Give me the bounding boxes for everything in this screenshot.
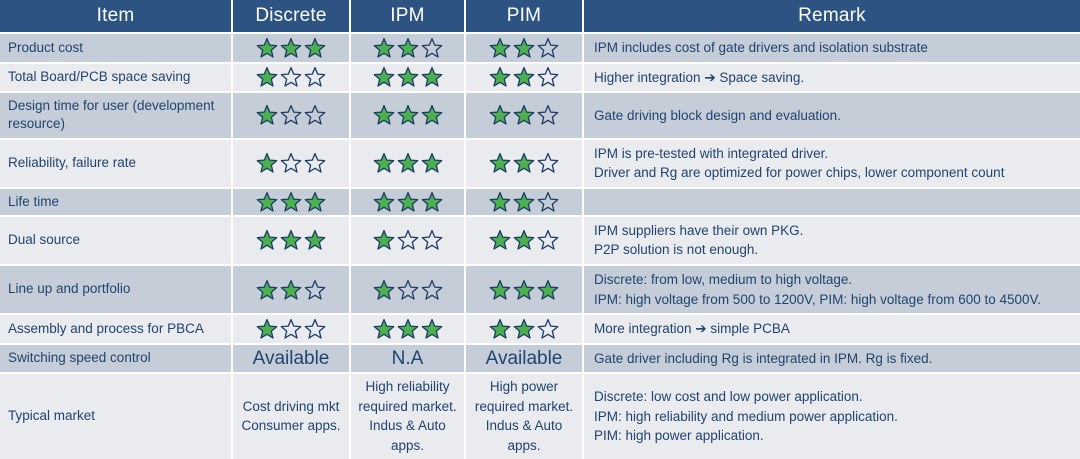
star-empty-icon [279,320,303,337]
cell-remark: Gate driving block design and evaluation… [583,92,1080,138]
star-empty-icon [303,320,327,337]
star-rating [255,152,327,174]
star-rating [372,152,444,174]
star-empty-icon [396,281,420,298]
cell-remark: IPM is pre-tested with integrated driver… [583,139,1080,188]
column-header-remark: Remark [583,0,1080,33]
cell-discrete [232,216,350,265]
cell-remark: IPM includes cost of gate drivers and is… [583,33,1080,63]
star-filled-icon [512,107,536,124]
star-filled-icon [420,320,444,337]
star-rating [372,279,444,301]
star-empty-icon [420,281,444,298]
star-filled-icon [420,193,444,210]
star-empty-icon [536,193,560,210]
cell-discrete [232,314,350,344]
star-filled-icon [255,39,279,56]
cell-pim [465,188,583,216]
cell-pim [465,33,583,63]
star-filled-icon [488,232,512,249]
star-rating [488,37,560,59]
cell-ipm [350,139,465,188]
star-filled-icon [255,69,279,86]
cell-ipm: N.A [350,344,465,374]
cell-remark: Discrete: from low, medium to high volta… [583,265,1080,314]
cell-discrete [232,92,350,138]
cell-ipm [350,188,465,216]
table-row: Design time for user (development resour… [0,92,1080,138]
star-empty-icon [279,107,303,124]
star-empty-icon [420,232,444,249]
row-label: Reliability, failure rate [0,139,232,188]
star-rating [372,318,444,340]
table-row: Dual sourceIPM suppliers have their own … [0,216,1080,265]
star-filled-icon [488,193,512,210]
star-empty-icon [396,232,420,249]
star-empty-icon [536,39,560,56]
cell-discrete [232,265,350,314]
cell-discrete: Cost driving mkt Consumer apps. [232,373,350,458]
cell-discrete [232,33,350,63]
star-filled-icon [536,281,560,298]
star-filled-icon [303,39,327,56]
star-filled-icon [512,69,536,86]
cell-remark: Discrete: low cost and low power applica… [583,373,1080,458]
cell-remark: IPM suppliers have their own PKG. P2P so… [583,216,1080,265]
cell-pim [465,139,583,188]
star-rating [372,66,444,88]
cell-remark: More integration ➔ simple PCBA [583,314,1080,344]
header-row: Item Discrete IPM PIM Remark [0,0,1080,33]
star-filled-icon [512,281,536,298]
star-filled-icon [420,69,444,86]
cell-pim: High power required market. Indus & Auto… [465,373,583,458]
cell-ipm [350,314,465,344]
star-filled-icon [488,39,512,56]
star-filled-icon [279,193,303,210]
star-filled-icon [512,154,536,171]
star-filled-icon [303,193,327,210]
cell-remark: Higher integration ➔ Space saving. [583,63,1080,93]
star-rating [255,279,327,301]
star-filled-icon [303,232,327,249]
star-empty-icon [303,281,327,298]
cell-discrete [232,63,350,93]
row-label: Design time for user (development resour… [0,92,232,138]
star-rating [255,104,327,126]
star-filled-icon [488,281,512,298]
star-filled-icon [372,320,396,337]
star-filled-icon [488,107,512,124]
star-empty-icon [420,39,444,56]
star-rating [488,229,560,251]
column-header-pim: PIM [465,0,583,33]
star-filled-icon [396,320,420,337]
row-label: Total Board/PCB space saving [0,63,232,93]
cell-pim: Available [465,344,583,374]
star-filled-icon [488,154,512,171]
star-empty-icon [279,154,303,171]
table-row: Typical marketCost driving mkt Consumer … [0,373,1080,458]
table-row: Line up and portfolioDiscrete: from low,… [0,265,1080,314]
star-filled-icon [372,39,396,56]
table-row: Product costIPM includes cost of gate dr… [0,33,1080,63]
table-row: Life time [0,188,1080,216]
star-filled-icon [372,154,396,171]
star-empty-icon [303,69,327,86]
row-label: Line up and portfolio [0,265,232,314]
cell-remark [583,188,1080,216]
star-empty-icon [536,69,560,86]
star-filled-icon [420,107,444,124]
star-rating [488,66,560,88]
star-rating [255,229,327,251]
star-filled-icon [255,154,279,171]
star-empty-icon [279,69,303,86]
star-filled-icon [372,193,396,210]
column-header-ipm: IPM [350,0,465,33]
star-filled-icon [488,69,512,86]
row-label: Dual source [0,216,232,265]
star-rating [488,191,560,213]
star-empty-icon [536,232,560,249]
star-filled-icon [372,232,396,249]
cell-ipm: High reliability required market. Indus … [350,373,465,458]
star-filled-icon [255,107,279,124]
table-row: Reliability, failure rateIPM is pre-test… [0,139,1080,188]
row-label: Assembly and process for PBCA [0,314,232,344]
star-rating [255,37,327,59]
star-rating [255,191,327,213]
star-rating [372,229,444,251]
star-filled-icon [279,39,303,56]
star-rating [372,191,444,213]
star-filled-icon [255,232,279,249]
star-filled-icon [372,69,396,86]
star-filled-icon [255,281,279,298]
star-filled-icon [396,193,420,210]
star-filled-icon [512,320,536,337]
star-filled-icon [372,107,396,124]
cell-ipm [350,92,465,138]
star-filled-icon [372,281,396,298]
cell-remark: Gate driver including Rg is integrated i… [583,344,1080,374]
table-row: Assembly and process for PBCAMore integr… [0,314,1080,344]
star-rating [488,104,560,126]
cell-pim [465,92,583,138]
star-filled-icon [512,39,536,56]
star-rating [255,318,327,340]
star-filled-icon [396,69,420,86]
table-header: Item Discrete IPM PIM Remark [0,0,1080,33]
column-header-item: Item [0,0,232,33]
star-empty-icon [303,107,327,124]
star-empty-icon [536,320,560,337]
star-filled-icon [488,320,512,337]
star-filled-icon [255,193,279,210]
star-rating [372,104,444,126]
star-filled-icon [279,281,303,298]
column-header-discrete: Discrete [232,0,350,33]
table-body: Product costIPM includes cost of gate dr… [0,33,1080,459]
star-filled-icon [279,232,303,249]
cell-ipm [350,265,465,314]
star-rating [372,37,444,59]
cell-ipm [350,216,465,265]
cell-ipm [350,63,465,93]
star-filled-icon [396,39,420,56]
cell-pim [465,265,583,314]
star-filled-icon [420,154,444,171]
star-filled-icon [396,107,420,124]
table-row: Total Board/PCB space savingHigher integ… [0,63,1080,93]
star-empty-icon [536,107,560,124]
power-module-comparison-table: Item Discrete IPM PIM Remark Product cos… [0,0,1080,459]
star-rating [488,152,560,174]
cell-discrete: Available [232,344,350,374]
row-label: Life time [0,188,232,216]
star-filled-icon [512,232,536,249]
star-filled-icon [396,154,420,171]
row-label: Product cost [0,33,232,63]
table-row: Switching speed controlAvailableN.AAvail… [0,344,1080,374]
star-empty-icon [303,154,327,171]
row-label: Switching speed control [0,344,232,374]
star-filled-icon [512,193,536,210]
cell-discrete [232,139,350,188]
cell-discrete [232,188,350,216]
cell-pim [465,314,583,344]
row-label: Typical market [0,373,232,458]
star-rating [488,279,560,301]
star-rating [255,66,327,88]
cell-pim [465,63,583,93]
star-rating [488,318,560,340]
cell-ipm [350,33,465,63]
cell-pim [465,216,583,265]
star-filled-icon [255,320,279,337]
star-empty-icon [536,154,560,171]
